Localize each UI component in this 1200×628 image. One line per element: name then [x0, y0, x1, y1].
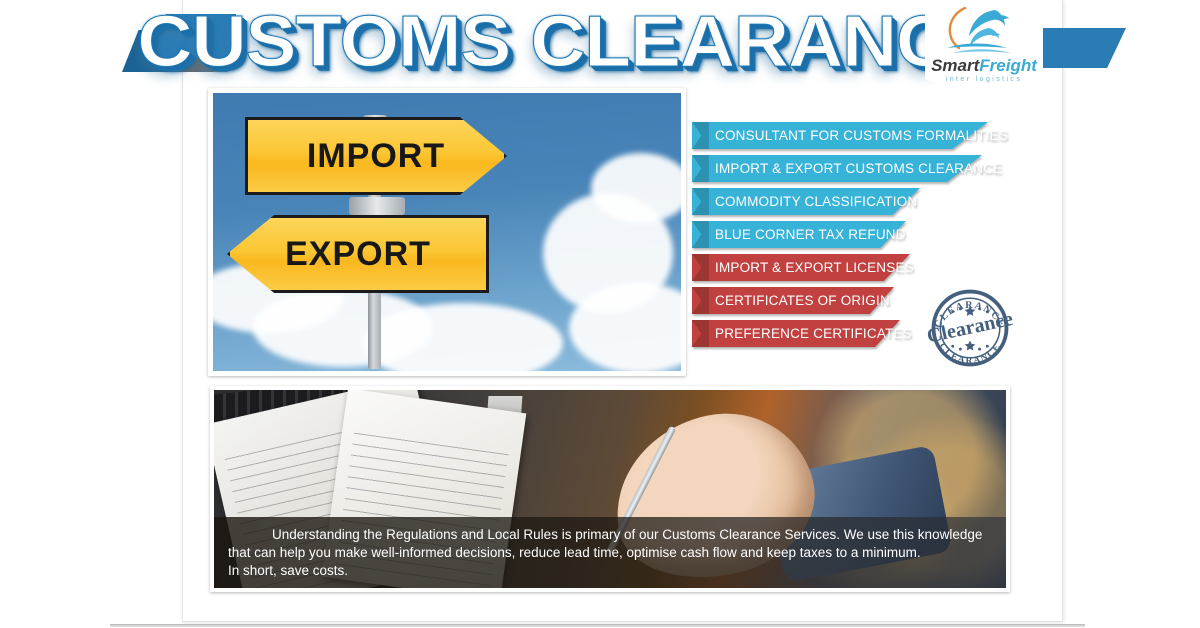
service-item[interactable]: BLUE CORNER TAX REFUND: [692, 221, 1012, 248]
export-sign-label: EXPORT: [230, 235, 486, 274]
caption-overlay: Understanding the Regulations and Local …: [214, 517, 1006, 588]
doc-photo-inner: Understanding the Regulations and Local …: [214, 390, 1006, 588]
dolphins-icon: [939, 2, 1031, 58]
import-export-signs-photo: IMPORT EXPORT: [208, 88, 686, 376]
customs-document-photo: Understanding the Regulations and Local …: [210, 386, 1010, 592]
caption-line-2: that can help you make well-informed dec…: [228, 544, 992, 562]
signs-photo-inner: IMPORT EXPORT: [213, 93, 681, 371]
service-item-label: COMMODITY CLASSIFICATION: [692, 194, 917, 209]
export-sign: EXPORT: [227, 215, 489, 293]
service-item[interactable]: COMMODITY CLASSIFICATION: [692, 188, 1012, 215]
logo-word-freight: Freight: [979, 56, 1037, 75]
service-item-label: PREFERENCE CERTIFICATES: [692, 326, 912, 341]
export-sign-plate: EXPORT: [227, 215, 489, 293]
page-bottom-rule: [110, 624, 1085, 627]
import-sign: IMPORT: [245, 117, 507, 195]
service-item-label: IMPORT & EXPORT LICENSES: [692, 260, 914, 275]
import-sign-label: IMPORT: [248, 137, 504, 176]
caption-line-3: In short, save costs.: [228, 562, 992, 580]
service-item-label: CONSULTANT FOR CUSTOMS FORMALITIES: [692, 128, 1008, 143]
service-item[interactable]: IMPORT & EXPORT CUSTOMS CLEARANCE: [692, 155, 1012, 182]
import-sign-plate: IMPORT: [245, 117, 507, 195]
cloud-shape: [591, 153, 681, 223]
logo-word-smart: Smart: [931, 56, 979, 75]
service-item[interactable]: IMPORT & EXPORT LICENSES: [692, 254, 1012, 281]
sign-post-collar: [349, 197, 405, 215]
caption-line-1: Understanding the Regulations and Local …: [228, 526, 992, 544]
service-item-label: BLUE CORNER TAX REFUND: [692, 227, 906, 242]
logo-wordmark: SmartFreight: [925, 56, 1043, 76]
clearance-stamp-icon: CLEARANCE CLEARANCE Clearance: [922, 280, 1018, 376]
service-item-label: CERTIFICATES OF ORIGIN: [692, 293, 890, 308]
service-item[interactable]: CONSULTANT FOR CUSTOMS FORMALITIES: [692, 122, 1012, 149]
cloud-shape: [363, 303, 563, 371]
logo-tagline: inter logistics: [925, 76, 1043, 83]
service-item-label: IMPORT & EXPORT CUSTOMS CLEARANCE: [692, 161, 1002, 176]
